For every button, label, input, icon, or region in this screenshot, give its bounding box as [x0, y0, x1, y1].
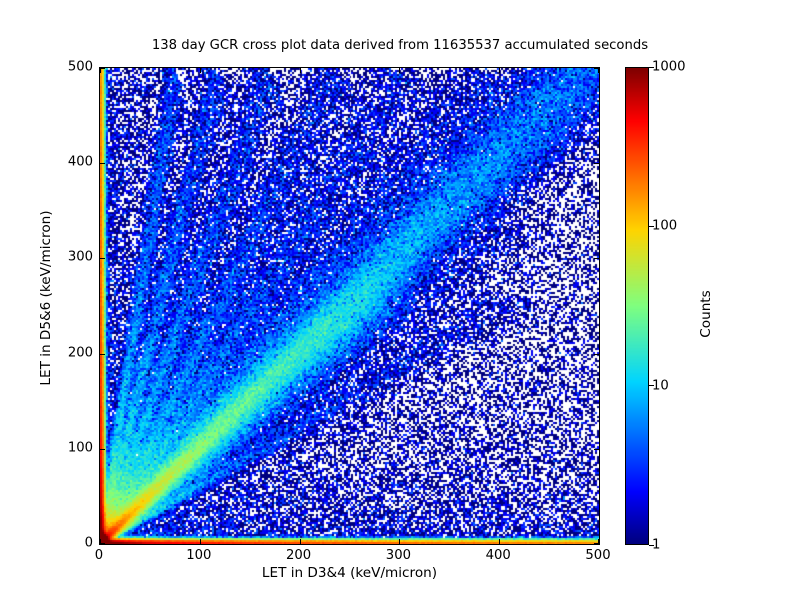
y-tick-300 — [100, 258, 105, 259]
x-tick-300 — [399, 68, 400, 73]
y-axis-title: LET in D5&6 (keV/micron) — [38, 148, 54, 448]
x-tick-200 — [300, 539, 301, 544]
x-tick-label-400: 400 — [486, 548, 511, 563]
y-tick-500 — [594, 68, 599, 69]
x-tick-100 — [200, 68, 201, 73]
x-tick-200 — [300, 68, 301, 73]
plot-area[interactable] — [99, 67, 600, 545]
colorbar-gradient — [625, 67, 649, 545]
y-tick-400 — [594, 163, 599, 164]
y-tick-0 — [100, 543, 105, 544]
y-tick-500 — [100, 68, 105, 69]
x-tick-label-500: 500 — [585, 548, 610, 563]
y-tick-label-200: 200 — [68, 345, 93, 360]
x-tick-400 — [499, 539, 500, 544]
x-tick-300 — [399, 539, 400, 544]
y-tick-label-0: 0 — [85, 536, 93, 551]
colorbar-tick-label-100: 100 — [652, 219, 677, 234]
y-tick-0 — [594, 543, 599, 544]
y-tick-300 — [594, 258, 599, 259]
x-axis-title: LET in D3&4 (keV/micron) — [99, 565, 600, 581]
colorbar-tick-label-10: 10 — [652, 378, 669, 393]
x-tick-label-0: 0 — [95, 548, 103, 563]
y-tick-label-100: 100 — [68, 440, 93, 455]
y-tick-100 — [594, 449, 599, 450]
figure-canvas: 138 day GCR cross plot data derived from… — [0, 0, 800, 600]
y-tick-label-500: 500 — [68, 60, 93, 75]
y-tick-100 — [100, 449, 105, 450]
y-tick-label-300: 300 — [68, 250, 93, 265]
colorbar-title: Counts — [698, 224, 714, 404]
y-tick-200 — [594, 354, 599, 355]
scatter-density-canvas — [100, 68, 599, 544]
x-tick-label-300: 300 — [386, 548, 411, 563]
x-tick-label-200: 200 — [286, 548, 311, 563]
x-tick-400 — [499, 68, 500, 73]
colorbar-tick-label-1: 1 — [652, 538, 660, 553]
y-tick-400 — [100, 163, 105, 164]
x-tick-100 — [200, 539, 201, 544]
plot-title-line-1: 138 day GCR cross plot data derived from… — [0, 38, 800, 54]
y-tick-200 — [100, 354, 105, 355]
y-tick-label-400: 400 — [68, 155, 93, 170]
colorbar[interactable] — [625, 67, 649, 545]
colorbar-tick-label-1000: 1000 — [652, 60, 686, 75]
x-tick-label-100: 100 — [186, 548, 211, 563]
